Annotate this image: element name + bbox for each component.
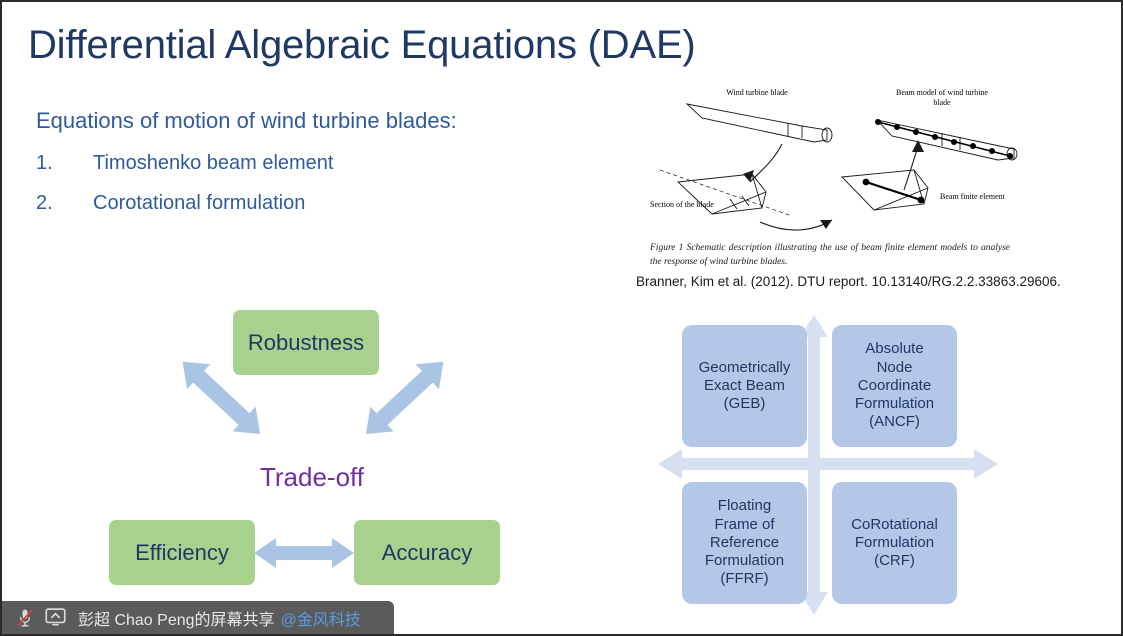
tradeoff-box-accuracy: Accuracy [354,520,500,585]
slide-title: Differential Algebraic Equations (DAE) [28,23,696,67]
quadrant-box-ffrf: FloatingFrame ofReferenceFormulation(FFR… [682,482,807,604]
tradeoff-center-label: Trade-off [92,462,532,493]
list-number-1: 1. [36,152,93,175]
screen-share-icon[interactable] [42,607,68,629]
figure-label-beam-model: Beam model of wind turbine blade [892,88,992,108]
list-number-2: 2. [36,192,93,215]
lead-line: Equations of motion of wind turbine blad… [36,108,457,134]
figure-label-beam-finite-element: Beam finite element [940,192,1010,202]
figure-label-wind-turbine-blade: Wind turbine blade [702,88,812,98]
figure-caption: Figure 1 Schematic description illustrat… [650,242,1010,270]
list-label-1: Timoshenko beam element [93,152,334,174]
screen-share-status-bar[interactable]: 彭超 Chao Peng的屏幕共享 @金风科技 [2,601,394,634]
figure-citation: Branner, Kim et al. (2012). DTU report. … [636,274,1061,289]
presentation-slide: Differential Algebraic Equations (DAE) E… [0,0,1123,636]
numbered-list-item-1: 1.Timoshenko beam element [36,152,334,175]
screen-share-org: @金风科技 [281,606,361,630]
quadrant-box-ancf: AbsoluteNodeCoordinateFormulation(ANCF) [832,325,957,447]
tradeoff-box-robustness: Robustness [233,310,379,375]
quadrant-box-crf: CoRotationalFormulation(CRF) [832,482,957,604]
tradeoff-box-efficiency: Efficiency [109,520,255,585]
wind-turbine-schematic-figure: Wind turbine blade Beam model of wind tu… [642,82,1042,242]
tradeoff-diagram: Robustness Efficiency Accuracy Trade-off [92,297,532,597]
formulation-quadrant-chart: GeometricallyExact Beam(GEB) AbsoluteNod… [642,297,1042,632]
figure-label-section-of-blade: Section of the blade [650,200,720,210]
screen-share-label: 彭超 Chao Peng的屏幕共享 [78,606,275,630]
microphone-muted-icon[interactable] [12,607,38,629]
numbered-list-item-2: 2.Corotational formulation [36,192,305,215]
quadrant-box-geb: GeometricallyExact Beam(GEB) [682,325,807,447]
list-label-2: Corotational formulation [93,192,305,214]
